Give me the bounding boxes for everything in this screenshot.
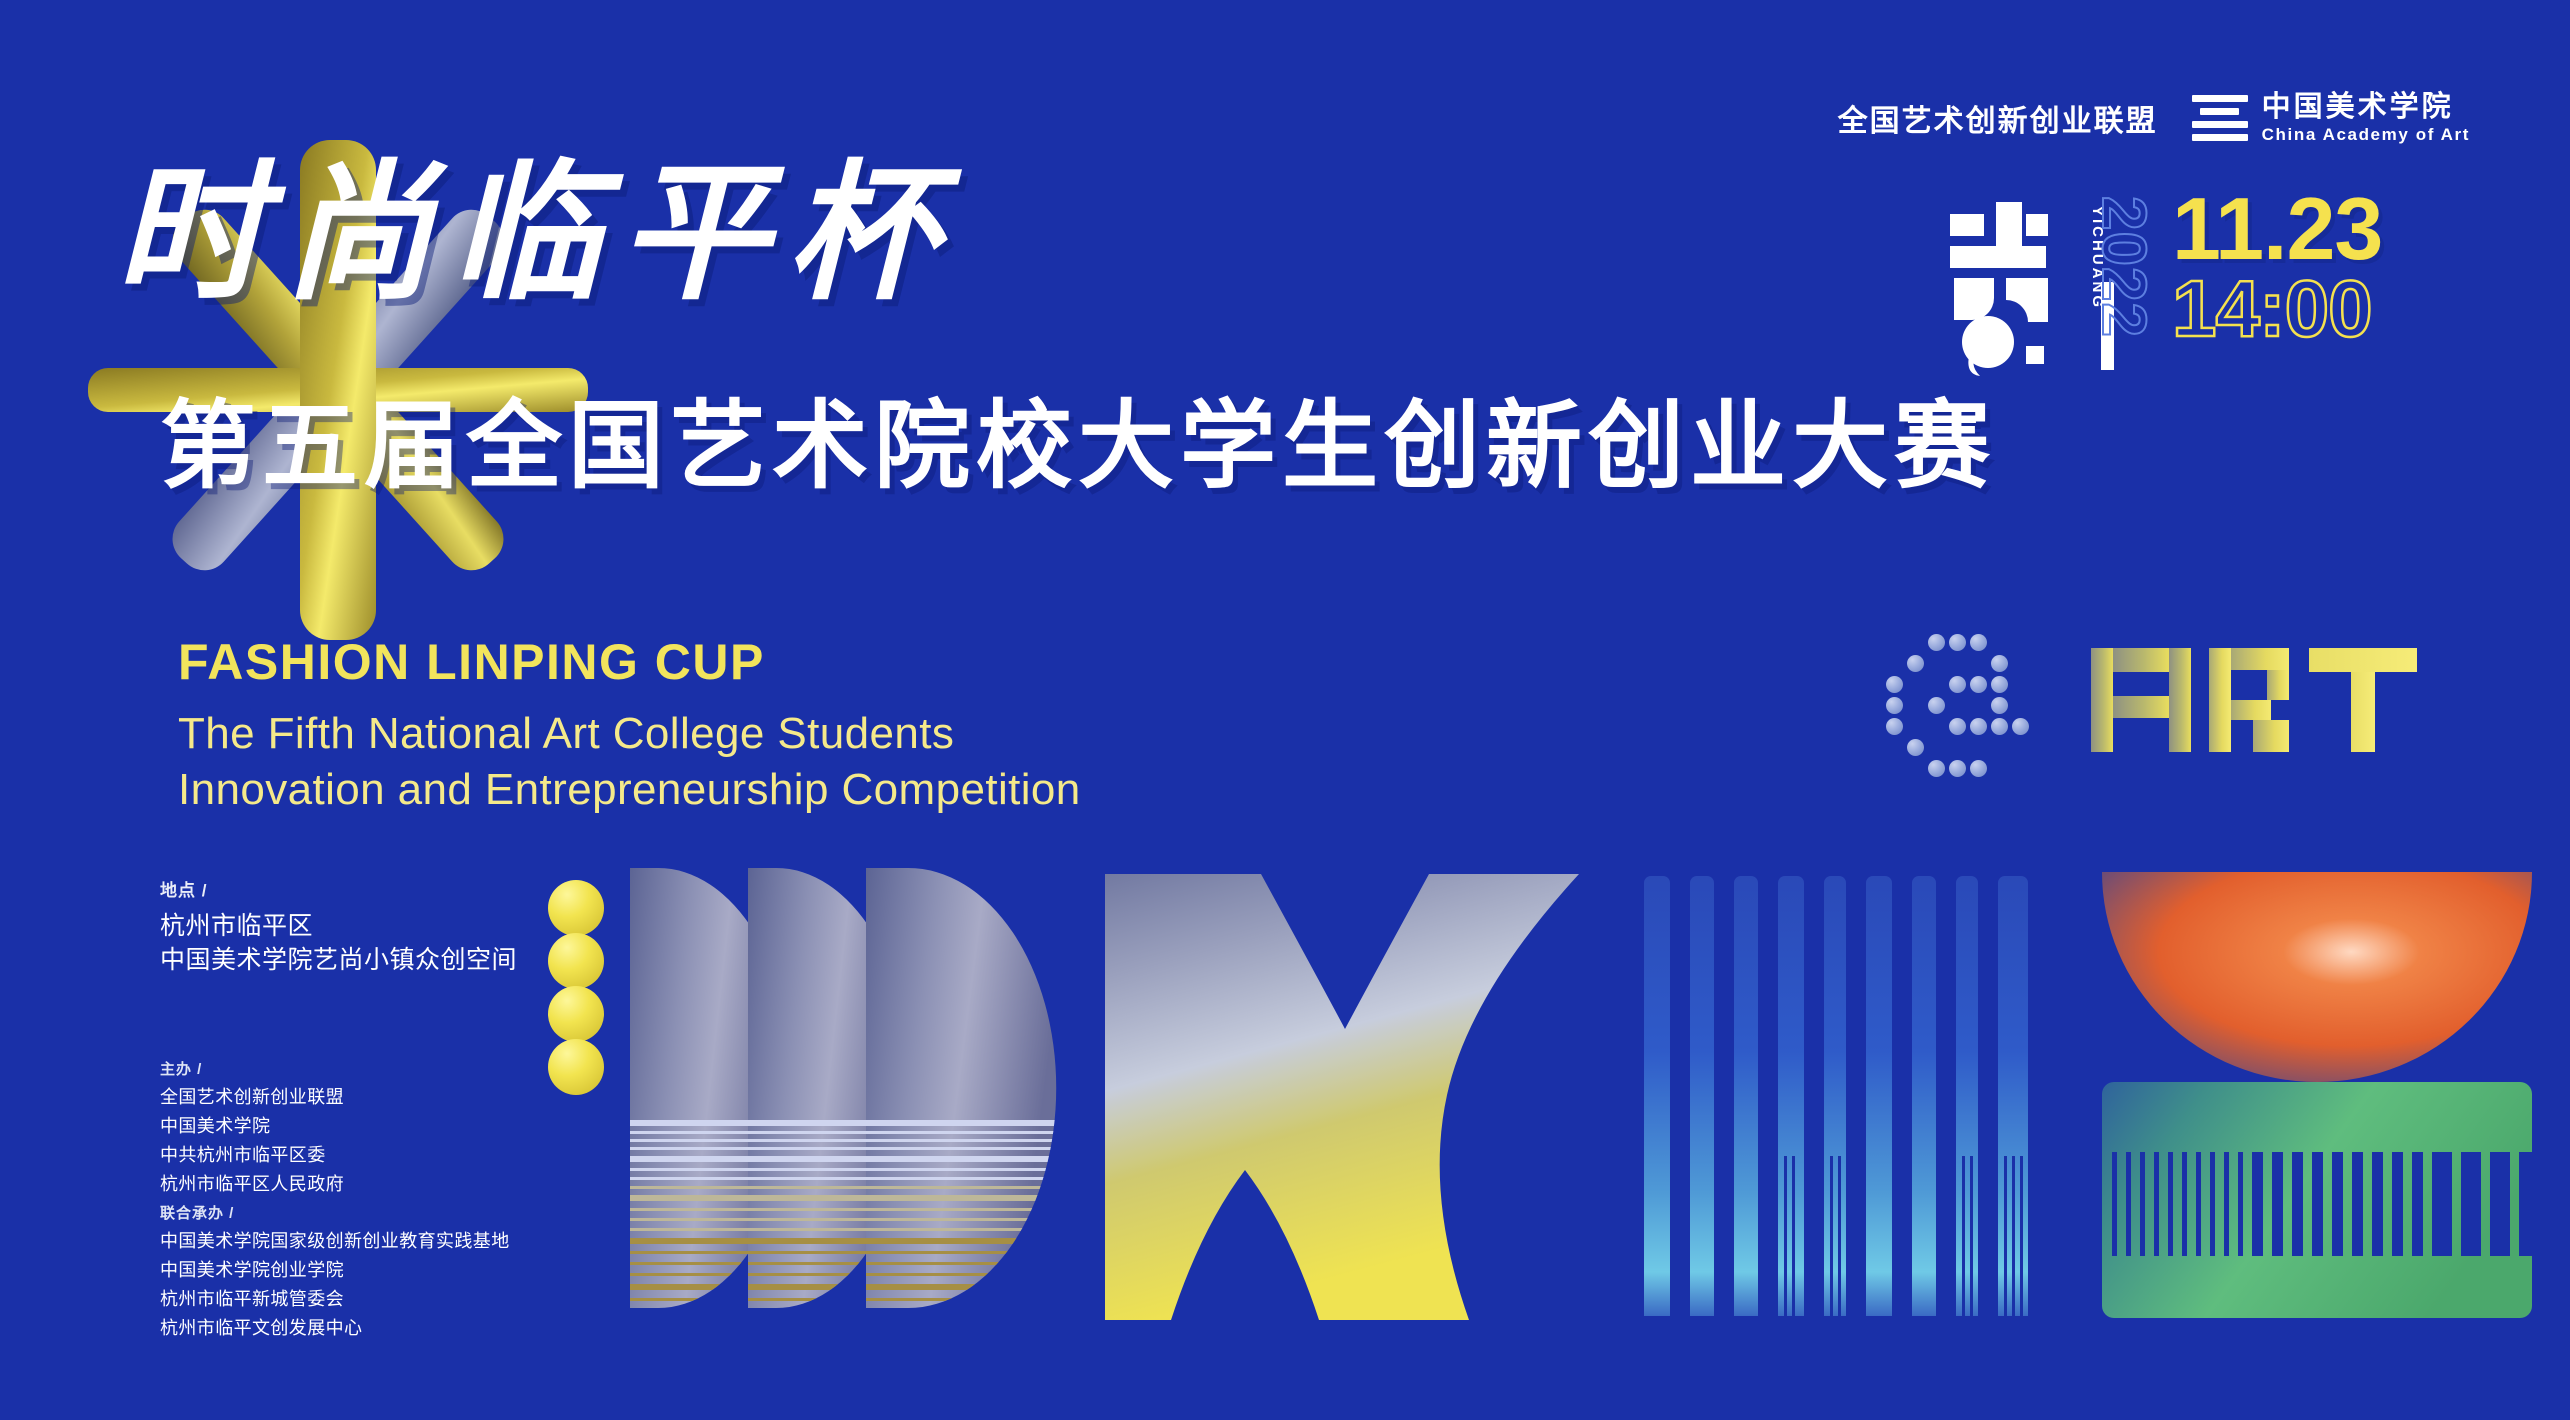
bowl-barcode-group bbox=[2098, 868, 2548, 1320]
page-title: 时尚临平杯 bbox=[115, 112, 955, 329]
english-title: FASHION LINPING CUP bbox=[178, 630, 1081, 694]
poster-canvas: 全国艺术创新创业联盟 中国美术学院 China Academy of Art bbox=[0, 0, 2570, 1420]
event-schedule: 11.23 14:00 bbox=[2172, 188, 2382, 346]
academy-name-en: China Academy of Art bbox=[2262, 126, 2470, 143]
year-label: 2022 bbox=[2092, 196, 2154, 338]
decorative-graphics-strip bbox=[0, 860, 2570, 1340]
vertical-bars-icon bbox=[1640, 876, 2040, 1316]
top-partner-logos: 全国艺术创新创业联盟 中国美术学院 China Academy of Art bbox=[1838, 92, 2470, 143]
event-date: 11.23 bbox=[2172, 188, 2382, 271]
at-dotmatrix-icon bbox=[1886, 634, 2036, 784]
art-word-decoration bbox=[2085, 640, 2425, 760]
academy-name-cn: 中国美术学院 bbox=[2262, 92, 2470, 121]
english-subtitle-line-1: The Fifth National Art College Students bbox=[178, 706, 1081, 762]
english-subtitle-line-2: Innovation and Entrepreneurship Competit… bbox=[178, 762, 1081, 818]
x-shape-icon bbox=[1105, 870, 1585, 1320]
english-title-block: FASHION LINPING CUP The Fifth National A… bbox=[178, 630, 1081, 819]
caa-bars-icon bbox=[2192, 95, 2248, 141]
yellow-spheres-icon bbox=[548, 880, 604, 1095]
event-time: 14:00 bbox=[2172, 271, 2382, 346]
alliance-name: 全国艺术创新创业联盟 bbox=[1838, 96, 2158, 140]
d-shapes-icon bbox=[630, 862, 1070, 1320]
china-academy-of-art-logo: 中国美术学院 China Academy of Art bbox=[2192, 92, 2470, 143]
page-subtitle: 第五届全国艺术院校大学生创新创业大赛 bbox=[160, 368, 1996, 507]
